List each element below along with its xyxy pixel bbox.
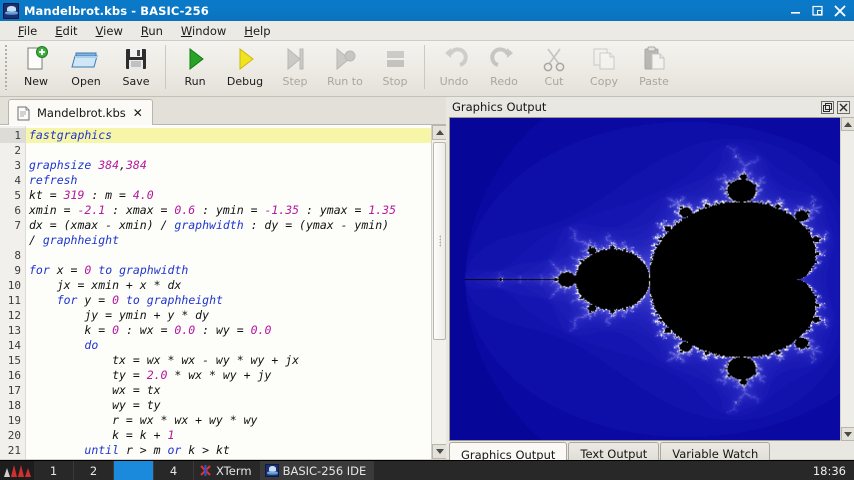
code-line[interactable]: refresh: [26, 173, 446, 188]
taskbar-clock: 18:36: [813, 464, 854, 478]
code-line[interactable]: wx = tx: [26, 383, 446, 398]
window-controls: [790, 5, 854, 17]
undo-arrow-icon: [439, 45, 469, 73]
graphics-output-dock: Graphics Output: [446, 97, 854, 459]
line-number: 1: [0, 128, 25, 143]
mandelbrot-canvas[interactable]: [450, 118, 848, 440]
code-line[interactable]: wy = ty: [26, 398, 446, 413]
window-titlebar: Mandelbrot.kbs - BASIC-256: [0, 0, 854, 21]
run-play-icon: [180, 45, 210, 73]
toolbar-button-run[interactable]: Run: [170, 41, 220, 93]
menu-file[interactable]: File: [9, 22, 46, 40]
toolbar-button-redo: Redo: [479, 41, 529, 93]
toolbar-button-save[interactable]: Save: [111, 41, 161, 93]
code-line[interactable]: k = 0 : wx = 0.0 : wy = 0.0: [26, 323, 446, 338]
toolbar-button-label: Save: [122, 75, 149, 88]
graphics-vertical-scrollbar[interactable]: [840, 117, 854, 441]
line-number: 5: [0, 188, 25, 203]
line-number: 7: [0, 218, 25, 233]
editor-tab-mandelbrot[interactable]: Mandelbrot.kbs ✕: [8, 99, 153, 126]
workspace-button-3[interactable]: [114, 461, 154, 480]
scroll-up-icon[interactable]: [841, 117, 854, 131]
run-to-icon: [330, 45, 360, 73]
float-icon[interactable]: [821, 101, 834, 114]
debug-play-icon: [230, 45, 260, 73]
desktop-taskbar: 124 XTermBASIC-256 IDE 18:36: [0, 460, 854, 480]
scrollbar-thumb[interactable]: [433, 142, 446, 340]
line-number: 3: [0, 158, 25, 173]
workspace-button-1[interactable]: 1: [34, 461, 74, 480]
task-label: XTerm: [216, 464, 252, 478]
line-number: 6: [0, 203, 25, 218]
line-number: 9: [0, 263, 25, 278]
dock-title-label: Graphics Output: [452, 100, 546, 114]
line-number: 2: [0, 143, 25, 158]
scroll-down-icon[interactable]: [432, 444, 447, 459]
workspace-button-4[interactable]: 4: [154, 461, 194, 480]
close-icon[interactable]: ✕: [133, 108, 143, 118]
scrollbar-track[interactable]: [432, 140, 447, 444]
toolbar-separator: [165, 45, 166, 89]
toolbar-button-label: Redo: [490, 75, 518, 88]
toolbar-button-label: Run to: [327, 75, 363, 88]
toolbar-button-run-to: Run to: [320, 41, 370, 93]
redo-arrow-icon: [489, 45, 519, 73]
workspace-switcher: 124: [34, 461, 194, 480]
toolbar-button-label: Undo: [440, 75, 469, 88]
line-number: 4: [0, 173, 25, 188]
basic256-icon: [265, 464, 279, 477]
code-line[interactable]: until r > m or k > kt: [26, 443, 446, 458]
code-line[interactable]: [26, 248, 446, 263]
menubar: File Edit View Run Window Help: [0, 21, 854, 41]
toolbar-button-label: Open: [71, 75, 100, 88]
stop-icon: [380, 45, 410, 73]
toolbar-button-paste: Paste: [629, 41, 679, 93]
task-xterm[interactable]: XTerm: [194, 461, 260, 480]
line-number: 17: [0, 383, 25, 398]
code-line[interactable]: jy = ymin + y * dy: [26, 308, 446, 323]
new-file-icon: [21, 45, 51, 73]
code-line[interactable]: / graphheight: [26, 233, 446, 248]
close-icon[interactable]: [837, 101, 850, 114]
clipboard-icon: [639, 45, 669, 73]
toolbar-button-undo: Undo: [429, 41, 479, 93]
task-label: BASIC-256 IDE: [283, 464, 367, 478]
toolbar-button-step: Step: [270, 41, 320, 93]
editor-tabstrip: Mandelbrot.kbs ✕: [0, 97, 446, 125]
window-title: Mandelbrot.kbs - BASIC-256: [24, 4, 209, 18]
scissors-icon: [539, 45, 569, 73]
dock-titlebar: Graphics Output: [446, 97, 854, 117]
line-number: 18: [0, 398, 25, 413]
editor-vertical-scrollbar[interactable]: [431, 125, 446, 459]
save-floppy-icon: [121, 45, 151, 73]
toolbar-separator: [424, 45, 425, 89]
close-icon[interactable]: [834, 5, 846, 17]
code-line[interactable]: [26, 143, 446, 158]
xterm-icon: [199, 464, 212, 477]
line-number: 13: [0, 323, 25, 338]
line-number: 21: [0, 443, 25, 458]
document-icon: [17, 106, 30, 121]
line-number: 16: [0, 368, 25, 383]
menu-window[interactable]: Window: [172, 22, 235, 40]
toolbar-group-run: RunDebugStepRun toStop: [170, 41, 420, 93]
editor-pane: Mandelbrot.kbs ✕ 12345678910111213141516…: [0, 97, 446, 459]
toolbar-button-label: Copy: [590, 75, 618, 88]
code-line[interactable]: do: [26, 338, 446, 353]
toolbar-button-label: Paste: [639, 75, 669, 88]
scroll-up-icon[interactable]: [432, 125, 447, 140]
toolbar-button-stop: Stop: [370, 41, 420, 93]
line-number: 10: [0, 278, 25, 293]
line-number: 20: [0, 428, 25, 443]
code-line[interactable]: graphsize 384,384: [26, 158, 446, 173]
menu-edit[interactable]: Edit: [46, 22, 86, 40]
code-line[interactable]: r = wx * wx + wy * wy: [26, 413, 446, 428]
code-line[interactable]: ty = 2.0 * wx * wy + jy: [26, 368, 446, 383]
toolbar-button-label: New: [24, 75, 48, 88]
toolbar-button-open[interactable]: Open: [61, 41, 111, 93]
menu-help[interactable]: Help: [235, 22, 279, 40]
toolbar-button-new[interactable]: New: [11, 41, 61, 93]
code-line[interactable]: k = k + 1: [26, 428, 446, 443]
workspace-button-2[interactable]: 2: [74, 461, 114, 480]
toolbar-button-cut: Cut: [529, 41, 579, 93]
task-basic-256-ide[interactable]: BASIC-256 IDE: [260, 461, 375, 480]
toolbar-group-file: NewOpenSave: [11, 41, 161, 93]
code-line[interactable]: for x = 0 to graphwidth: [26, 263, 446, 278]
main-toolbar: NewOpenSave RunDebugStepRun toStop UndoR…: [0, 41, 854, 97]
code-line[interactable]: jx = xmin + x * dx: [26, 278, 446, 293]
line-number-gutter: 123456789101112131415161718192021: [0, 126, 26, 459]
copy-pages-icon: [589, 45, 619, 73]
code-text[interactable]: fastgraphics graphsize 384,384refreshkt …: [26, 126, 446, 459]
code-line[interactable]: dx = (xmax - xmin) / graphwidth : dy = (…: [26, 218, 446, 233]
code-editor[interactable]: 123456789101112131415161718192021 fastgr…: [0, 125, 446, 459]
toolbar-button-label: Cut: [545, 75, 564, 88]
menu-view[interactable]: View: [87, 22, 132, 40]
line-number: 14: [0, 338, 25, 353]
step-icon: [280, 45, 310, 73]
line-number: 11: [0, 293, 25, 308]
maximize-icon[interactable]: [812, 5, 823, 16]
code-line[interactable]: tx = wx * wx - wy * wy + jx: [26, 353, 446, 368]
line-number: [0, 233, 25, 248]
line-number: 19: [0, 413, 25, 428]
toolbar-button-label: Step: [282, 75, 307, 88]
code-line[interactable]: kt = 319 : m = 4.0: [26, 188, 446, 203]
toolbar-group-edit: UndoRedoCutCopyPaste: [429, 41, 679, 93]
scroll-down-icon[interactable]: [841, 427, 854, 441]
graphics-canvas-container[interactable]: [449, 117, 849, 441]
code-line[interactable]: fastgraphics: [26, 128, 446, 143]
task-list: XTermBASIC-256 IDE: [194, 461, 374, 480]
menu-run[interactable]: Run: [132, 22, 172, 40]
basic256-icon: [3, 3, 19, 19]
line-number: 8: [0, 248, 25, 263]
line-number: 12: [0, 308, 25, 323]
toolbar-button-debug[interactable]: Debug: [220, 41, 270, 93]
toolbar-button-label: Stop: [382, 75, 407, 88]
open-folder-icon: [71, 45, 101, 73]
editor-tab-label: Mandelbrot.kbs: [37, 106, 126, 120]
toolbar-button-copy: Copy: [579, 41, 629, 93]
code-line[interactable]: xmin = -2.1 : xmax = 0.6 : ymin = -1.35 …: [26, 203, 446, 218]
toolbar-grip[interactable]: [2, 44, 11, 90]
minimize-icon[interactable]: [790, 5, 801, 16]
window-manager-logo-icon[interactable]: [0, 461, 34, 480]
line-number: 15: [0, 353, 25, 368]
code-line[interactable]: for y = 0 to graphheight: [26, 293, 446, 308]
toolbar-button-label: Run: [184, 75, 205, 88]
toolbar-button-label: Debug: [227, 75, 263, 88]
